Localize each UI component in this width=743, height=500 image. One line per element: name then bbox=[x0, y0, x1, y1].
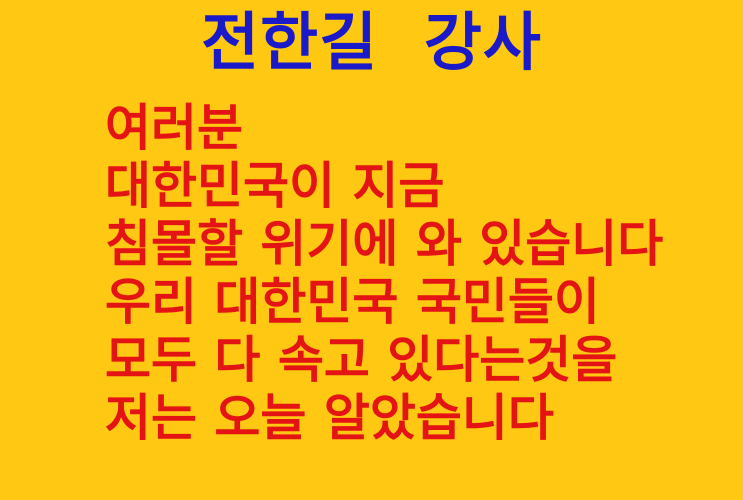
message-line-4: 우리 대한민국 국민들이 bbox=[105, 273, 725, 331]
message-line-6: 저는 오늘 알았습니다 bbox=[105, 389, 725, 447]
poster-canvas: 전한길 강사 여러분 대한민국이 지금 침몰할 위기에 와 있습니다 우리 대한… bbox=[0, 0, 743, 500]
message-line-2: 대한민국이 지금 bbox=[105, 157, 725, 215]
page-title: 전한길 강사 bbox=[0, 6, 743, 80]
message-line-3: 침몰할 위기에 와 있습니다 bbox=[105, 215, 725, 273]
message-block: 여러분 대한민국이 지금 침몰할 위기에 와 있습니다 우리 대한민국 국민들이… bbox=[105, 99, 725, 447]
message-line-1: 여러분 bbox=[105, 99, 725, 157]
message-line-5: 모두 다 속고 있다는것을 bbox=[105, 331, 725, 389]
